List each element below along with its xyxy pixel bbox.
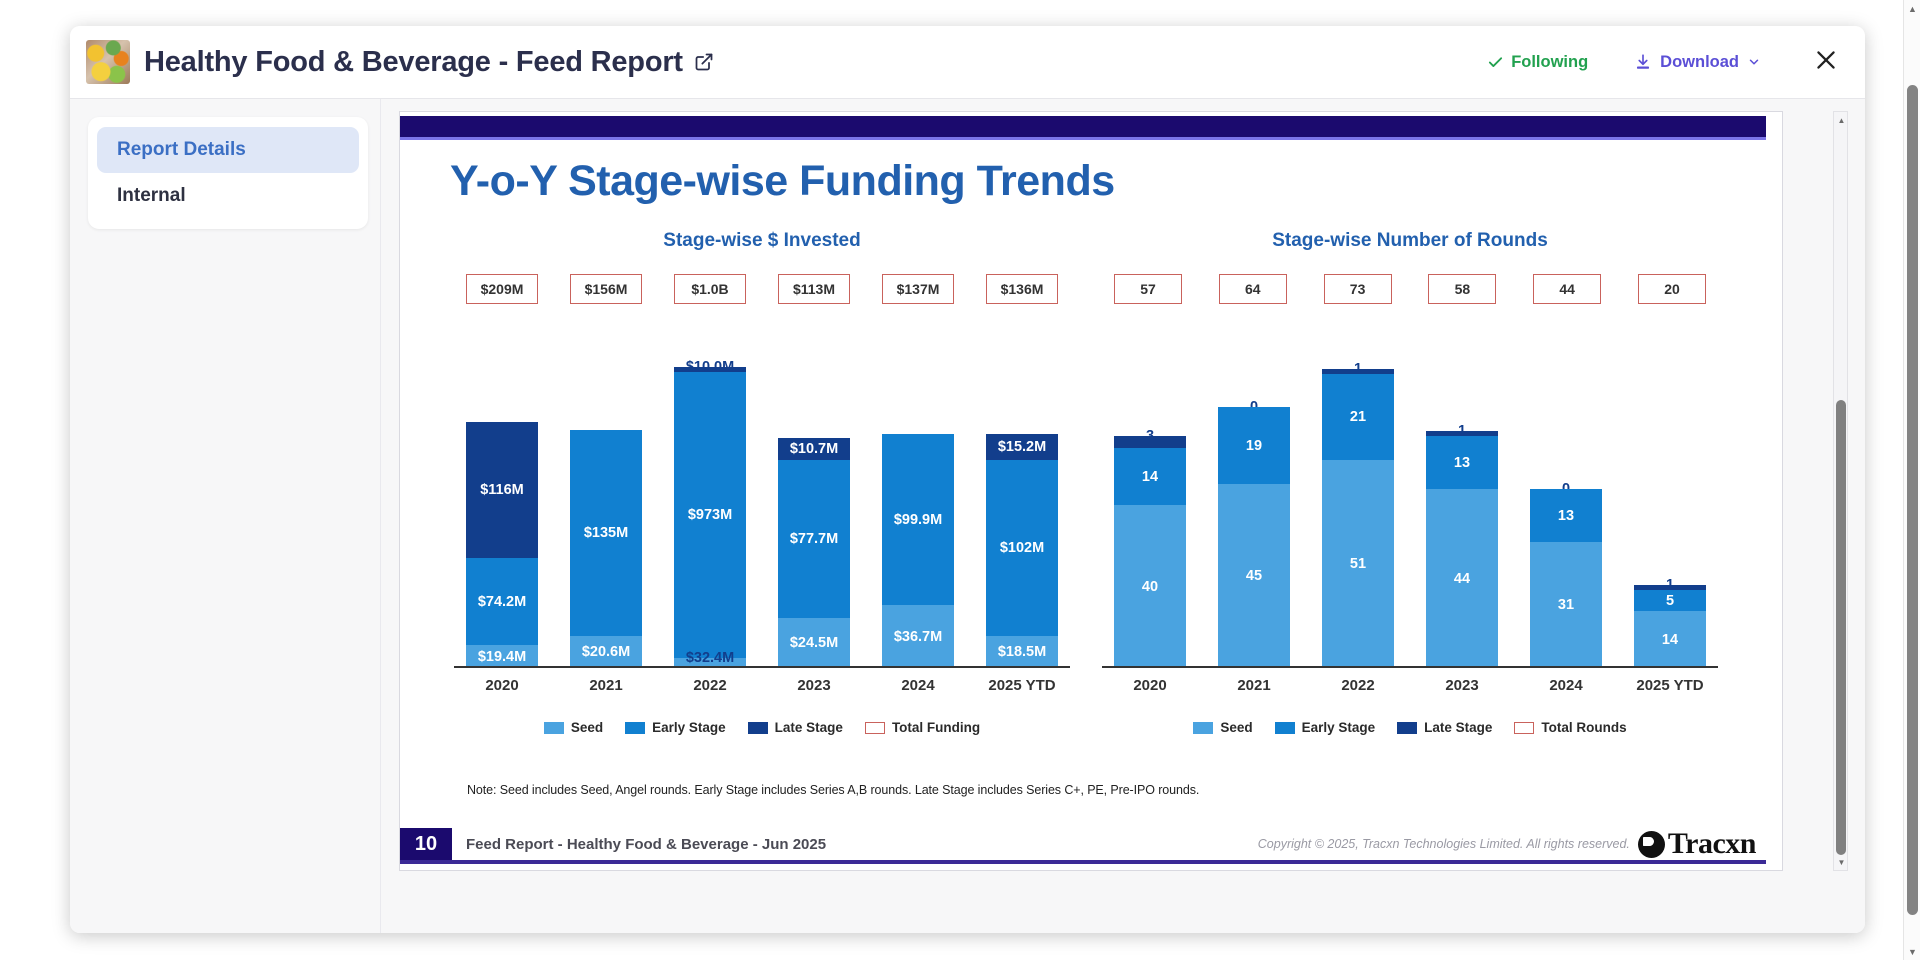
- legend-swatch: [748, 722, 768, 734]
- bar-segment-early-stage: 14: [1114, 448, 1186, 505]
- bar-segment-early-stage: 5: [1634, 590, 1706, 611]
- bar-segment-label: $135M: [584, 525, 628, 541]
- bar-segment-label: 13: [1454, 455, 1470, 471]
- bar-column: $10.0M$973M$32.4M: [674, 367, 746, 668]
- slide-footer-title: Feed Report - Healthy Food & Beverage - …: [466, 836, 826, 853]
- page-scrollbar-thumb[interactable]: [1907, 85, 1918, 915]
- total-value-box: $156M: [570, 274, 642, 304]
- bar-segment-label: $18.5M: [998, 644, 1046, 660]
- bar-segment-seed: $36.7M: [882, 605, 954, 668]
- sidebar-item-internal[interactable]: Internal: [97, 173, 359, 219]
- stacked-bar-plot: $116M$74.2M$19.4M$135M$20.6M$10.0M$973M$…: [452, 320, 1072, 668]
- x-axis-tick-labels: 202020212022202320242025 YTD: [452, 668, 1072, 694]
- x-tick-label: 2025 YTD: [1634, 677, 1706, 694]
- slide-page-10: Y-o-Y Stage-wise Funding Trends Stage-wi…: [400, 112, 1766, 871]
- legend-item: Seed: [544, 720, 603, 735]
- scroll-down-icon[interactable]: ▼: [1834, 855, 1849, 869]
- bar-segment-label: 5: [1666, 593, 1674, 609]
- stacked-bar-plot: 31440019451215111344013311514: [1100, 320, 1720, 668]
- bar-segment-seed: $32.4M: [674, 658, 746, 668]
- bar-segment-seed: 31: [1530, 542, 1602, 668]
- sidebar-item-label: Report Details: [117, 139, 246, 161]
- download-label: Download: [1660, 53, 1739, 72]
- legend-item: Total Funding: [865, 720, 980, 735]
- document-scrollbar-thumb[interactable]: [1836, 400, 1846, 855]
- bar-segment-seed: 14: [1634, 611, 1706, 668]
- bar-segment-label: $32.4M: [686, 650, 734, 666]
- check-icon: [1487, 54, 1504, 71]
- bar-segment-early-stage: 13: [1530, 489, 1602, 542]
- x-tick-label: 2024: [882, 677, 954, 694]
- x-tick-label: 2023: [778, 677, 850, 694]
- legend-swatch: [1397, 722, 1417, 734]
- bar-segment-label: $20.6M: [582, 644, 630, 660]
- legend-label: Total Funding: [892, 720, 980, 735]
- bar-segment-seed: $20.6M: [570, 636, 642, 668]
- download-icon: [1634, 53, 1652, 71]
- x-tick-label: 2022: [674, 677, 746, 694]
- bar-column: 1514: [1634, 585, 1706, 668]
- x-tick-label: 2020: [1114, 677, 1186, 694]
- total-value-box: $137M: [882, 274, 954, 304]
- following-button[interactable]: Following: [1487, 53, 1588, 72]
- chart-legend: SeedEarly StageLate StageTotal Funding: [452, 720, 1072, 735]
- x-tick-label: 2025 YTD: [986, 677, 1058, 694]
- bar-segment-early-stage: $135M: [570, 430, 642, 636]
- bar-segment-seed: 45: [1218, 484, 1290, 668]
- following-label: Following: [1511, 53, 1588, 72]
- x-tick-label: 2021: [570, 677, 642, 694]
- bar-segment-early-stage: 21: [1322, 374, 1394, 460]
- report-thumbnail-image: [86, 40, 130, 84]
- x-tick-label: 2023: [1426, 677, 1498, 694]
- bar-column: 11344: [1426, 431, 1498, 668]
- report-modal: Healthy Food & Beverage - Feed Report Fo…: [70, 26, 1865, 933]
- bar-segment-seed: 40: [1114, 505, 1186, 668]
- bar-segment-label: 31: [1558, 597, 1574, 613]
- sidebar-card: Report Details Internal: [88, 117, 368, 229]
- total-value-box: $113M: [778, 274, 850, 304]
- legend-swatch: [1193, 722, 1213, 734]
- bar-column: 12151: [1322, 369, 1394, 668]
- total-value-box: $209M: [466, 274, 538, 304]
- legend-swatch: [625, 722, 645, 734]
- bar-column: 31440: [1114, 436, 1186, 668]
- legend-label: Late Stage: [775, 720, 843, 735]
- bar-segment-seed: 44: [1426, 489, 1498, 668]
- totals-row: $209M$156M$1.0B$113M$137M$136M: [452, 274, 1072, 304]
- bar-column: 01331: [1530, 489, 1602, 668]
- legend-label: Late Stage: [1424, 720, 1492, 735]
- x-tick-label: 2022: [1322, 677, 1394, 694]
- x-tick-label: 2024: [1530, 677, 1602, 694]
- slide-footer-content: Feed Report - Healthy Food & Beverage - …: [452, 828, 1766, 860]
- bar-segment-label: $24.5M: [790, 635, 838, 651]
- modal-header: Healthy Food & Beverage - Feed Report Fo…: [70, 26, 1865, 98]
- bar-segment-label: $973M: [688, 507, 732, 523]
- slide-footer-copyright: Copyright © 2025, Tracxn Technologies Li…: [1258, 837, 1630, 851]
- bar-segment-label: $15.2M: [998, 439, 1046, 455]
- bar-column: $116M$74.2M$19.4M: [466, 422, 538, 668]
- bar-segment-late-stage: $116M: [466, 422, 538, 558]
- bar-segment-early-stage: $102M: [986, 460, 1058, 636]
- bar-segment-label: $116M: [480, 482, 524, 498]
- total-value-box: $1.0B: [674, 274, 746, 304]
- chart-legend: SeedEarly StageLate StageTotal Rounds: [1100, 720, 1720, 735]
- tracxn-logo: Tracxn: [1638, 827, 1756, 861]
- bar-segment-late-stage: $10.7M: [778, 438, 850, 460]
- legend-label: Total Rounds: [1541, 720, 1626, 735]
- page-scroll-down-icon[interactable]: ▼: [1904, 943, 1920, 960]
- legend-item: Late Stage: [748, 720, 843, 735]
- sidebar-item-report-details[interactable]: Report Details: [97, 127, 359, 173]
- chart-panel-rounds: Stage-wise Number of Rounds 576473584420…: [1100, 230, 1720, 790]
- tracxn-logo-text: Tracxn: [1668, 827, 1756, 861]
- bar-segment-seed: $24.5M: [778, 618, 850, 668]
- bar-column: $99.9M$36.7M: [882, 434, 954, 668]
- chart-footnote: Note: Seed includes Seed, Angel rounds. …: [467, 783, 1199, 797]
- chart-title: Stage-wise $ Invested: [452, 230, 1072, 252]
- slide-frame: Y-o-Y Stage-wise Funding Trends Stage-wi…: [399, 111, 1783, 871]
- bar-segment-seed: $19.4M: [466, 645, 538, 668]
- total-value-box: $136M: [986, 274, 1058, 304]
- legend-label: Seed: [571, 720, 603, 735]
- bar-segment-label: 14: [1142, 469, 1158, 485]
- bar-segment-label: 21: [1350, 409, 1366, 425]
- legend-swatch: [865, 722, 885, 734]
- bar-segment-label: $99.9M: [894, 512, 942, 528]
- bar-segment-late-stage: $15.2M: [986, 434, 1058, 460]
- legend-item: Total Rounds: [1514, 720, 1626, 735]
- legend-label: Early Stage: [652, 720, 726, 735]
- total-value-box: 20: [1638, 274, 1706, 304]
- bar-segment-early-stage: $973M: [674, 372, 746, 658]
- download-button[interactable]: Download: [1634, 53, 1761, 72]
- bar-column: 01945: [1218, 407, 1290, 668]
- bar-segment-early-stage: $74.2M: [466, 558, 538, 645]
- legend-swatch: [1275, 722, 1295, 734]
- bar-segment-early-stage: $77.7M: [778, 460, 850, 618]
- sidebar: Report Details Internal: [70, 99, 381, 933]
- legend-swatch: [1514, 722, 1534, 734]
- bar-segment-label: $77.7M: [790, 531, 838, 547]
- bar-segment-early-stage: $99.9M: [882, 434, 954, 605]
- bar-segment-seed: $18.5M: [986, 636, 1058, 668]
- chart-title: Stage-wise Number of Rounds: [1100, 230, 1720, 252]
- modal-body: Report Details Internal Y-o-Y Stage-wise…: [70, 98, 1865, 933]
- chart-panel-invested: Stage-wise $ Invested $209M$156M$1.0B$11…: [452, 230, 1072, 790]
- bar-segment-late-stage: 3: [1114, 436, 1186, 448]
- bar-segment-label: 40: [1142, 579, 1158, 595]
- bar-segment-label: $102M: [1000, 540, 1044, 556]
- legend-item: Seed: [1193, 720, 1252, 735]
- bar-segment-label: $10.7M: [790, 441, 838, 457]
- bar-segment-label: 14: [1662, 632, 1678, 648]
- totals-row: 576473584420: [1100, 274, 1720, 304]
- chevron-down-icon: [1747, 55, 1761, 69]
- total-value-box: 57: [1114, 274, 1182, 304]
- x-tick-label: 2020: [466, 677, 538, 694]
- header-actions: Following Download: [1487, 47, 1839, 78]
- external-link-icon[interactable]: [694, 52, 714, 72]
- bar-segment-label: $74.2M: [478, 594, 526, 610]
- total-value-box: 58: [1428, 274, 1496, 304]
- bar-column: $10.7M$77.7M$24.5M: [778, 438, 850, 668]
- bar-segment-label: 51: [1350, 556, 1366, 572]
- legend-label: Seed: [1220, 720, 1252, 735]
- legend-swatch: [544, 722, 564, 734]
- x-axis-tick-labels: 202020212022202320242025 YTD: [1100, 668, 1720, 694]
- slide-page-number: 10: [400, 828, 452, 860]
- legend-label: Early Stage: [1302, 720, 1376, 735]
- bar-segment-label: 19: [1246, 438, 1262, 454]
- legend-item: Early Stage: [1275, 720, 1376, 735]
- bar-segment-label: 44: [1454, 571, 1470, 587]
- slide-title: Y-o-Y Stage-wise Funding Trends: [450, 157, 1115, 206]
- slide-footer: 10 Feed Report - Healthy Food & Beverage…: [400, 828, 1766, 864]
- bar-segment-early-stage: 13: [1426, 436, 1498, 489]
- tracxn-mark-icon: [1638, 831, 1665, 858]
- total-value-box: 44: [1533, 274, 1601, 304]
- document-viewer: Y-o-Y Stage-wise Funding Trends Stage-wi…: [381, 99, 1865, 933]
- x-tick-label: 2021: [1218, 677, 1290, 694]
- page-scrollbar[interactable]: ▲ ▼: [1903, 0, 1920, 960]
- total-value-box: 64: [1219, 274, 1287, 304]
- bar-segment-seed: 51: [1322, 460, 1394, 668]
- legend-item: Early Stage: [625, 720, 726, 735]
- document-scrollbar[interactable]: ▲ ▼: [1833, 111, 1848, 871]
- sidebar-item-label: Internal: [117, 185, 186, 207]
- page-scroll-up-icon[interactable]: ▲: [1904, 0, 1920, 17]
- bar-segment-early-stage: 19: [1218, 407, 1290, 484]
- bar-column: $135M$20.6M: [570, 430, 642, 668]
- close-icon[interactable]: [1813, 47, 1839, 78]
- bar-segment-label: 13: [1558, 508, 1574, 524]
- bar-segment-label: $19.4M: [478, 649, 526, 665]
- bar-segment-label: $36.7M: [894, 629, 942, 645]
- slide-top-accent-bar: [400, 116, 1766, 140]
- scroll-up-icon[interactable]: ▲: [1834, 113, 1849, 127]
- page-title: Healthy Food & Beverage - Feed Report: [144, 46, 683, 79]
- legend-item: Late Stage: [1397, 720, 1492, 735]
- bar-segment-label: 3: [1146, 428, 1154, 444]
- total-value-box: 73: [1324, 274, 1392, 304]
- bar-column: $15.2M$102M$18.5M: [986, 434, 1058, 668]
- bar-segment-label: 45: [1246, 568, 1262, 584]
